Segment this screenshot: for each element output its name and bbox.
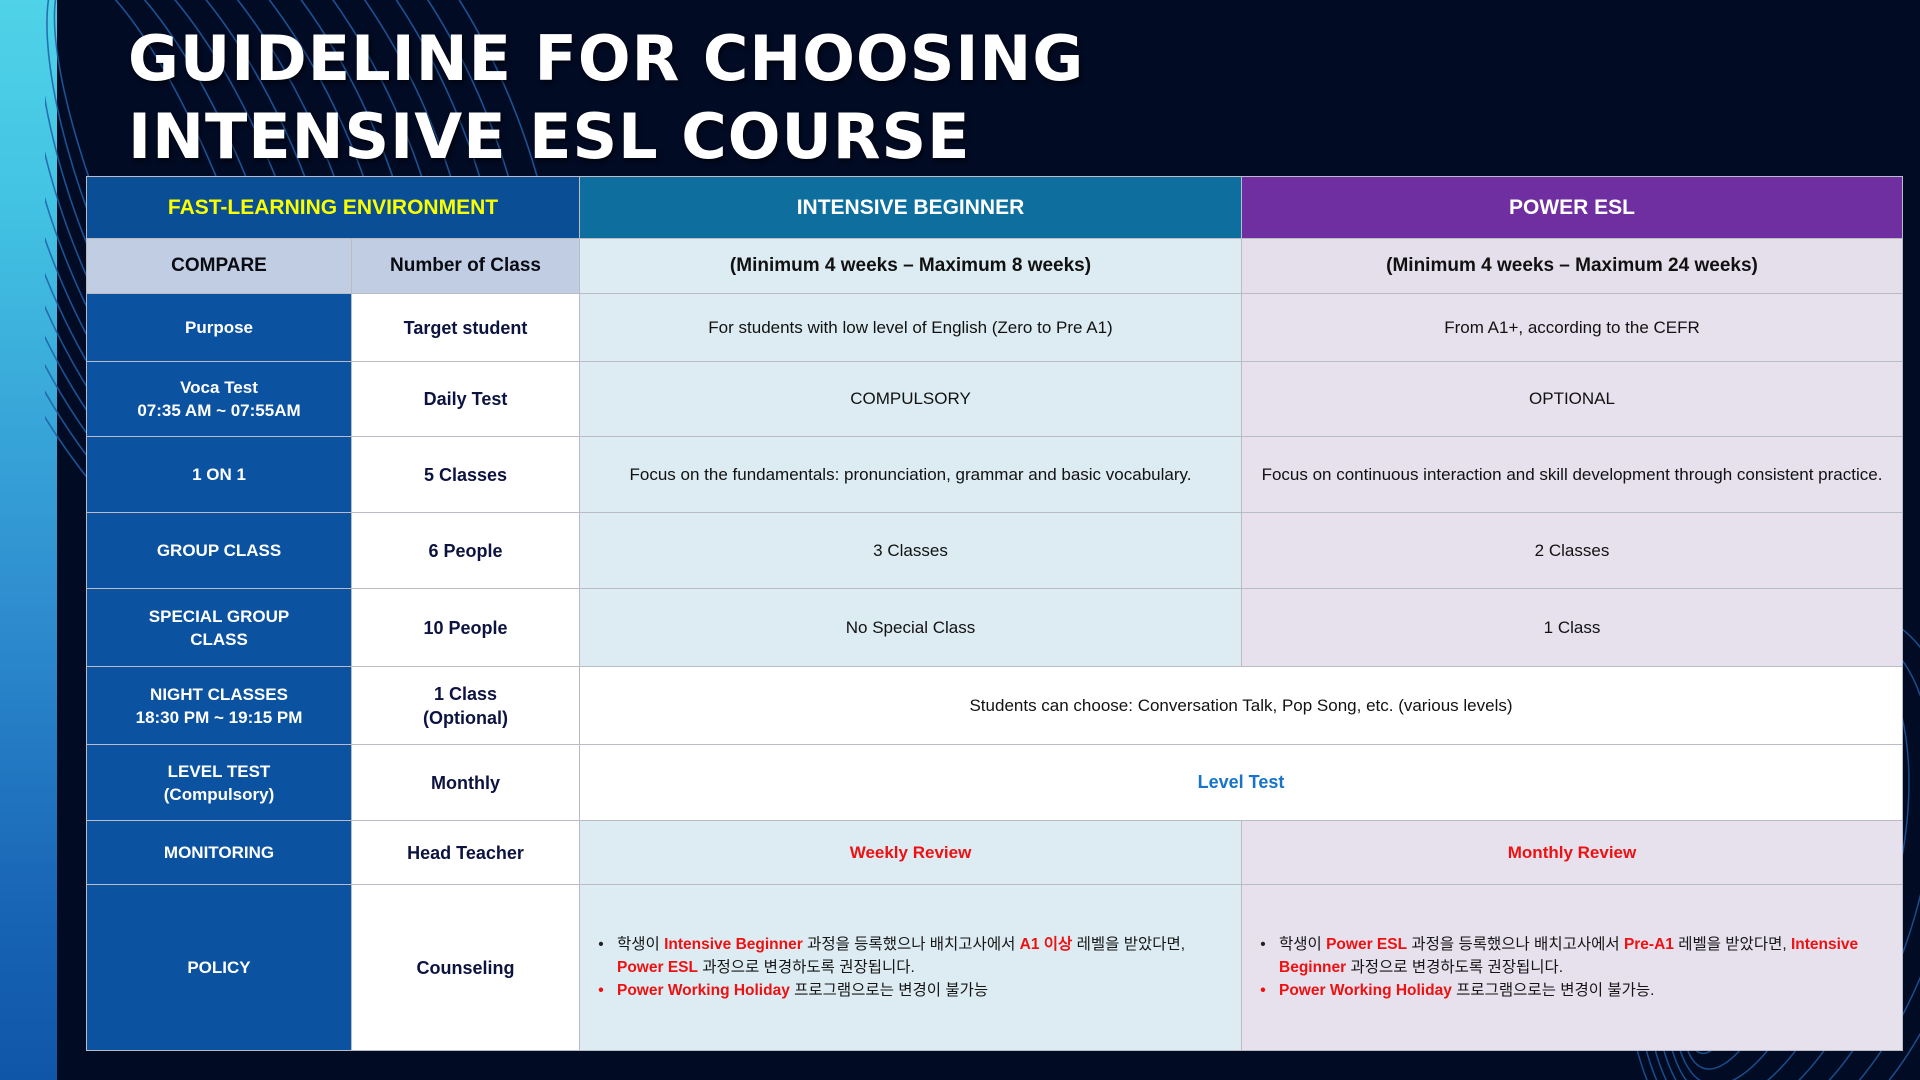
row-label-special-group-class: SPECIAL GROUP CLASS bbox=[87, 589, 352, 667]
cell-power-policy: •학생이 Power ESL 과정을 등록했으나 배치고사에서 Pre-A1 레… bbox=[1242, 885, 1903, 1051]
policy-bullet-item: •Power Working Holiday 프로그램으로는 변경이 불가능. bbox=[1258, 979, 1892, 1002]
row-label-special-group-class-line-1: SPECIAL GROUP bbox=[97, 605, 341, 628]
subheader-compare: COMPARE bbox=[87, 239, 352, 294]
row-label-night-classes-line-2: 18:30 PM ~ 19:15 PM bbox=[97, 706, 341, 729]
cell-intensive-monitoring: Weekly Review bbox=[580, 821, 1242, 885]
row-number-one-on-one: 5 Classes bbox=[352, 437, 580, 513]
cell-power-purpose: From A1+, according to the CEFR bbox=[1242, 294, 1903, 362]
comparison-table-container: FAST-LEARNING ENVIRONMENT INTENSIVE BEGI… bbox=[86, 176, 1902, 1050]
page-title-line-1: GUIDELINE FOR CHOOSING bbox=[128, 20, 1428, 98]
row-number-voca-test: Daily Test bbox=[352, 362, 580, 437]
cell-intensive-policy: •학생이 Intensive Beginner 과정을 등록했으나 배치고사에서… bbox=[580, 885, 1242, 1051]
row-label-voca-test-line-2: 07:35 AM ~ 07:55AM bbox=[97, 399, 341, 422]
row-number-night-classes-line-1: 1 Class bbox=[362, 682, 569, 706]
row-label-policy: POLICY bbox=[87, 885, 352, 1051]
cell-intensive-special-group-class: No Special Class bbox=[580, 589, 1242, 667]
cell-intensive-purpose: For students with low level of English (… bbox=[580, 294, 1242, 362]
cell-intensive-group-class: 3 Classes bbox=[580, 513, 1242, 589]
header-power-esl: POWER ESL bbox=[1242, 177, 1903, 239]
row-number-night-classes-line-2: (Optional) bbox=[362, 706, 569, 730]
bullet-dot-icon: • bbox=[596, 979, 606, 1002]
row-label-group-class: GROUP CLASS bbox=[87, 513, 352, 589]
row-number-level-test: Monthly bbox=[352, 745, 580, 821]
row-number-purpose: Target student bbox=[352, 294, 580, 362]
table-row-policy: POLICY Counseling •학생이 Intensive Beginne… bbox=[87, 885, 1903, 1051]
bullet-dot-icon: • bbox=[1258, 979, 1268, 1002]
table-subheader-row: COMPARE Number of Class (Minimum 4 weeks… bbox=[87, 239, 1903, 294]
row-label-level-test-line-2: (Compulsory) bbox=[97, 783, 341, 806]
table-row: 1 ON 1 5 Classes Focus on the fundamenta… bbox=[87, 437, 1903, 513]
course-comparison-table: FAST-LEARNING ENVIRONMENT INTENSIVE BEGI… bbox=[86, 176, 1903, 1051]
row-label-one-on-one: 1 ON 1 bbox=[87, 437, 352, 513]
cell-intensive-one-on-one: Focus on the fundamentals: pronunciation… bbox=[580, 437, 1242, 513]
row-label-level-test-line-1: LEVEL TEST bbox=[97, 760, 341, 783]
row-number-special-group-class: 10 People bbox=[352, 589, 580, 667]
table-row: LEVEL TEST (Compulsory) Monthly Level Te… bbox=[87, 745, 1903, 821]
subheader-intensive-duration: (Minimum 4 weeks – Maximum 8 weeks) bbox=[580, 239, 1242, 294]
row-number-night-classes: 1 Class (Optional) bbox=[352, 667, 580, 745]
table-row: NIGHT CLASSES 18:30 PM ~ 19:15 PM 1 Clas… bbox=[87, 667, 1903, 745]
table-row: GROUP CLASS 6 People 3 Classes 2 Classes bbox=[87, 513, 1903, 589]
cell-power-special-group-class: 1 Class bbox=[1242, 589, 1903, 667]
row-label-purpose: Purpose bbox=[87, 294, 352, 362]
row-label-level-test: LEVEL TEST (Compulsory) bbox=[87, 745, 352, 821]
row-number-policy: Counseling bbox=[352, 885, 580, 1051]
row-label-voca-test: Voca Test 07:35 AM ~ 07:55AM bbox=[87, 362, 352, 437]
table-row: Purpose Target student For students with… bbox=[87, 294, 1903, 362]
cell-power-monitoring: Monthly Review bbox=[1242, 821, 1903, 885]
cell-power-group-class: 2 Classes bbox=[1242, 513, 1903, 589]
cell-power-voca-test: OPTIONAL bbox=[1242, 362, 1903, 437]
policy-bullet-item: •학생이 Intensive Beginner 과정을 등록했으나 배치고사에서… bbox=[596, 933, 1231, 979]
policy-bullet-list-power: •학생이 Power ESL 과정을 등록했으나 배치고사에서 Pre-A1 레… bbox=[1252, 933, 1892, 1002]
table-header-row: FAST-LEARNING ENVIRONMENT INTENSIVE BEGI… bbox=[87, 177, 1903, 239]
header-fast-learning-environment: FAST-LEARNING ENVIRONMENT bbox=[87, 177, 580, 239]
subheader-number-of-class: Number of Class bbox=[352, 239, 580, 294]
row-label-night-classes: NIGHT CLASSES 18:30 PM ~ 19:15 PM bbox=[87, 667, 352, 745]
policy-bullet-text: 학생이 Power ESL 과정을 등록했으나 배치고사에서 Pre-A1 레벨… bbox=[1279, 933, 1892, 979]
page-title: GUIDELINE FOR CHOOSING INTENSIVE ESL COU… bbox=[128, 20, 1428, 176]
table-row: SPECIAL GROUP CLASS 10 People No Special… bbox=[87, 589, 1903, 667]
policy-bullet-text: Power Working Holiday 프로그램으로는 변경이 불가능. bbox=[1279, 979, 1892, 1002]
policy-bullet-list-intensive: •학생이 Intensive Beginner 과정을 등록했으나 배치고사에서… bbox=[590, 933, 1231, 1002]
cell-merged-night-classes: Students can choose: Conversation Talk, … bbox=[580, 667, 1903, 745]
table-row: MONITORING Head Teacher Weekly Review Mo… bbox=[87, 821, 1903, 885]
row-label-voca-test-line-1: Voca Test bbox=[97, 376, 341, 399]
policy-bullet-item: •Power Working Holiday 프로그램으로는 변경이 불가능 bbox=[596, 979, 1231, 1002]
row-number-monitoring: Head Teacher bbox=[352, 821, 580, 885]
policy-bullet-item: •학생이 Power ESL 과정을 등록했으나 배치고사에서 Pre-A1 레… bbox=[1258, 933, 1892, 979]
row-number-group-class: 6 People bbox=[352, 513, 580, 589]
page-title-line-2: INTENSIVE ESL COURSE bbox=[128, 98, 1428, 176]
bullet-dot-icon: • bbox=[596, 933, 606, 956]
policy-bullet-text: 학생이 Intensive Beginner 과정을 등록했으나 배치고사에서 … bbox=[617, 933, 1231, 979]
subheader-power-duration: (Minimum 4 weeks – Maximum 24 weeks) bbox=[1242, 239, 1903, 294]
cell-power-one-on-one: Focus on continuous interaction and skil… bbox=[1242, 437, 1903, 513]
row-label-night-classes-line-1: NIGHT CLASSES bbox=[97, 683, 341, 706]
policy-bullet-text: Power Working Holiday 프로그램으로는 변경이 불가능 bbox=[617, 979, 1231, 1002]
cell-merged-level-test: Level Test bbox=[580, 745, 1903, 821]
table-row: Voca Test 07:35 AM ~ 07:55AM Daily Test … bbox=[87, 362, 1903, 437]
left-gradient-strip bbox=[0, 0, 57, 1080]
cell-intensive-voca-test: COMPULSORY bbox=[580, 362, 1242, 437]
row-label-special-group-class-line-2: CLASS bbox=[97, 628, 341, 651]
row-label-monitoring: MONITORING bbox=[87, 821, 352, 885]
header-intensive-beginner: INTENSIVE BEGINNER bbox=[580, 177, 1242, 239]
bullet-dot-icon: • bbox=[1258, 933, 1268, 956]
